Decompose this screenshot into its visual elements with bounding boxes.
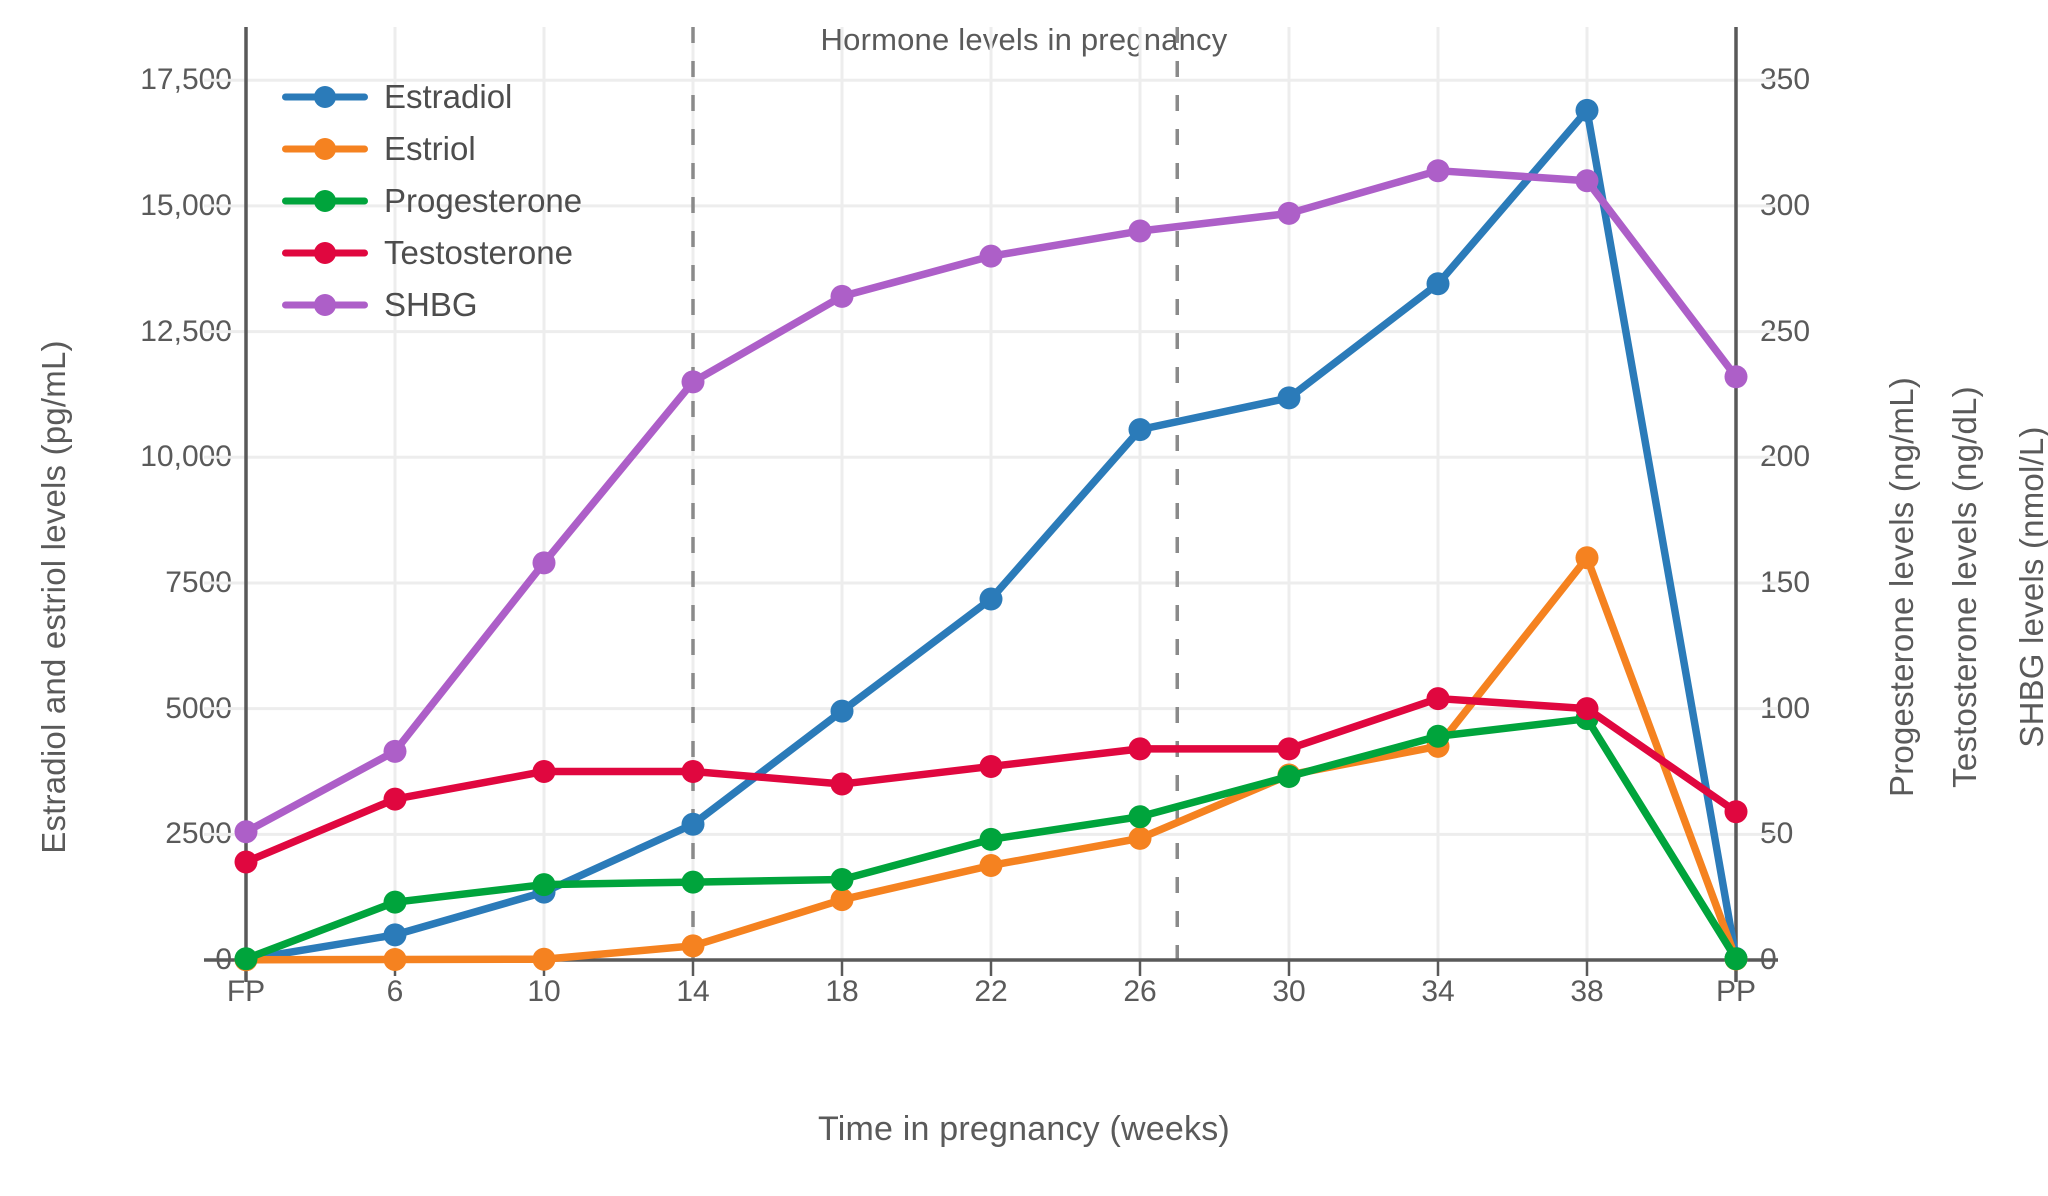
legend-label: Estradiol (384, 78, 512, 116)
data-point (1278, 386, 1301, 409)
data-point (980, 828, 1003, 851)
y-axis-right-title-testosterone: Testosterone levels (ng/dL) (1946, 267, 1984, 907)
data-point (682, 871, 705, 894)
data-point (384, 891, 407, 914)
data-point (533, 873, 556, 896)
data-point (1129, 805, 1152, 828)
data-point (682, 370, 705, 393)
data-point (1278, 737, 1301, 760)
data-point (831, 773, 854, 796)
x-tick: 34 (1421, 975, 1454, 1009)
legend-label: Estriol (384, 130, 476, 168)
data-point (533, 760, 556, 783)
y-axis-right-title-shbg: SHBG levels (nmol/L) (2013, 267, 2048, 907)
x-tick: 38 (1570, 975, 1603, 1009)
data-point (1576, 697, 1599, 720)
legend-swatch-icon (282, 78, 368, 116)
data-point (1427, 725, 1450, 748)
data-point (682, 760, 705, 783)
x-axis-title: Time in pregnancy (weeks) (0, 1110, 2048, 1149)
x-tick: 14 (676, 975, 709, 1009)
data-point (1278, 765, 1301, 788)
data-point (1129, 827, 1152, 850)
data-point (235, 850, 258, 873)
legend-label: Testosterone (384, 234, 573, 272)
legend-item-progesterone[interactable]: Progesterone (282, 182, 582, 220)
legend-label: Progesterone (384, 182, 582, 220)
y-axis-right-ticks: 050100150200250300350 (1760, 45, 1910, 960)
data-point (1129, 418, 1152, 441)
data-point (1427, 272, 1450, 295)
data-point (533, 551, 556, 574)
legend-item-testosterone[interactable]: Testosterone (282, 234, 582, 272)
data-point (682, 813, 705, 836)
data-point (1725, 800, 1748, 823)
data-point (980, 755, 1003, 778)
data-point (1427, 687, 1450, 710)
legend-item-estriol[interactable]: Estriol (282, 130, 582, 168)
data-point (384, 948, 407, 971)
x-tick: 30 (1272, 975, 1305, 1009)
legend-swatch-icon (282, 286, 368, 324)
data-point (1427, 159, 1450, 182)
legend-item-estradiol[interactable]: Estradiol (282, 78, 582, 116)
legend-item-shbg[interactable]: SHBG (282, 286, 582, 324)
data-point (1576, 546, 1599, 569)
data-point (980, 854, 1003, 877)
legend-swatch-icon (282, 182, 368, 220)
legend-swatch-icon (282, 234, 368, 272)
data-point (682, 934, 705, 957)
data-point (1725, 947, 1748, 970)
x-tick: 10 (527, 975, 560, 1009)
x-tick: 26 (1123, 975, 1156, 1009)
x-tick: 6 (387, 975, 404, 1009)
chart-legend: EstradiolEstriolProgesteroneTestosterone… (282, 78, 582, 324)
data-point (235, 947, 258, 970)
data-point (1129, 737, 1152, 760)
data-point (980, 245, 1003, 268)
data-point (1725, 365, 1748, 388)
data-point (533, 948, 556, 971)
data-point (1278, 202, 1301, 225)
y-axis-left-ticks: 025005000750010,00012,50015,00017,500 (60, 45, 232, 960)
legend-swatch-icon (282, 130, 368, 168)
x-tick: 18 (825, 975, 858, 1009)
data-point (1576, 169, 1599, 192)
x-tick: 22 (974, 975, 1007, 1009)
x-axis-ticks: FP61014182226303438PP (246, 975, 1736, 1025)
data-point (235, 820, 258, 843)
data-point (831, 285, 854, 308)
hormone-levels-line-chart: Hormone levels in pregnancy Estradiol an… (0, 0, 2048, 1196)
data-point (1576, 99, 1599, 122)
data-point (384, 788, 407, 811)
data-point (1129, 220, 1152, 243)
data-point (831, 868, 854, 891)
data-point (384, 740, 407, 763)
data-point (831, 888, 854, 911)
data-point (980, 588, 1003, 611)
data-point (384, 923, 407, 946)
data-point (831, 700, 854, 723)
legend-label: SHBG (384, 286, 478, 324)
